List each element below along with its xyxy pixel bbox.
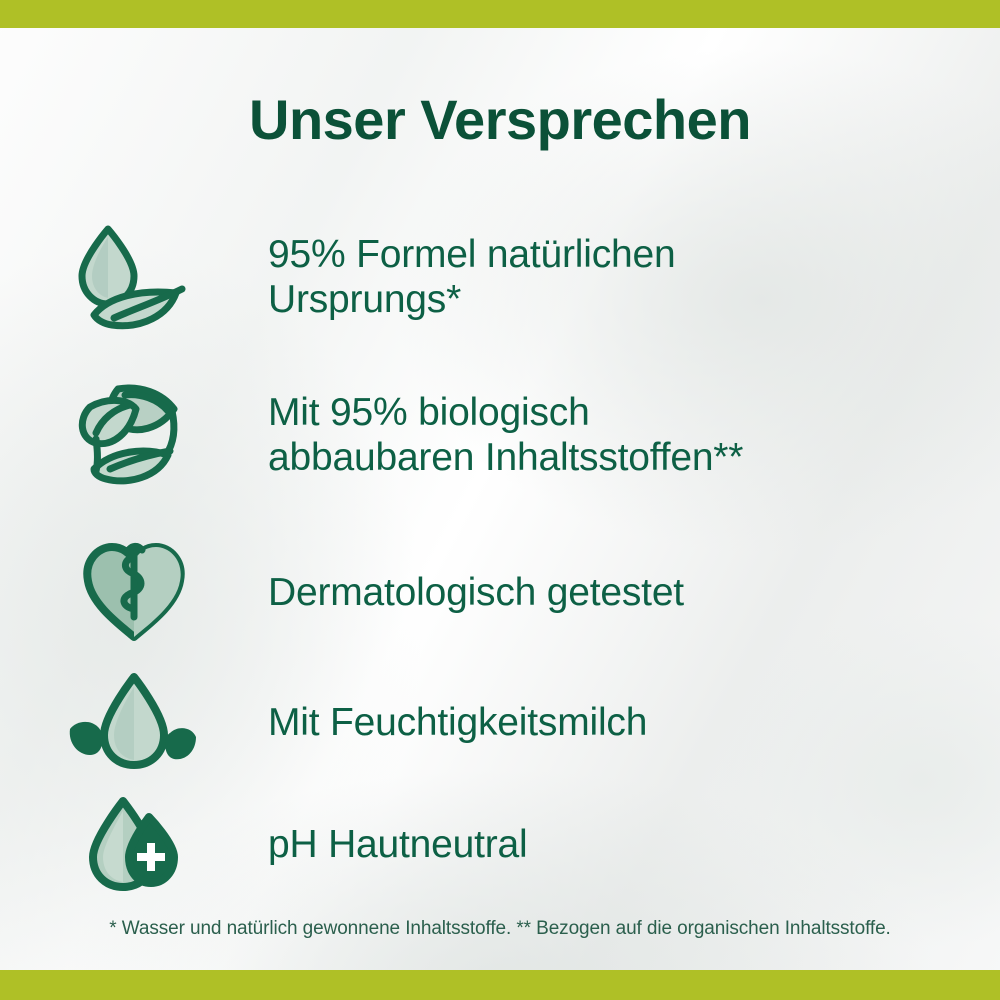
droplet-two-leaves-icon (66, 671, 202, 775)
claim-line: Dermatologisch getestet (268, 570, 684, 615)
top-accent-bar (0, 0, 1000, 28)
claim-icon-cell (0, 219, 268, 335)
list-item: Dermatologisch getestet (0, 530, 1000, 655)
claim-line: Mit 95% biologisch (268, 390, 743, 435)
promise-poster: Unser Versprechen 95% Formel natürlichen… (0, 0, 1000, 1000)
claim-text: Mit Feuchtigkeitsmilch (268, 700, 647, 745)
list-item: 95% Formel natürlichen Ursprungs* (0, 212, 1000, 342)
footnote-text: * Wasser und natürlich gewonnene Inhalts… (0, 918, 1000, 940)
claim-line: pH Hautneutral (268, 822, 528, 867)
claim-icon-cell (0, 537, 268, 649)
claim-line: 95% Formel natürlichen (268, 232, 675, 277)
list-item: Mit Feuchtigkeitsmilch (0, 664, 1000, 782)
claim-text: 95% Formel natürlichen Ursprungs* (268, 232, 675, 322)
claim-line: Mit Feuchtigkeitsmilch (268, 700, 647, 745)
list-item: Mit 95% biologisch abbaubaren Inhaltssto… (0, 370, 1000, 500)
claim-line: abbaubaren Inhaltsstoffen** (268, 435, 743, 480)
claim-text: Mit 95% biologisch abbaubaren Inhaltssto… (268, 390, 743, 480)
three-leaves-biodegradable-icon (70, 373, 198, 497)
claim-line: Ursprungs* (268, 277, 675, 322)
heart-caduceus-dermatology-icon (76, 537, 192, 649)
claim-icon-cell (0, 671, 268, 775)
list-item: pH Hautneutral (0, 790, 1000, 900)
bottom-accent-bar (0, 970, 1000, 1000)
page-title: Unser Versprechen (0, 92, 1000, 148)
claim-text: pH Hautneutral (268, 822, 528, 867)
claim-icon-cell (0, 373, 268, 497)
droplet-leaf-icon (68, 219, 200, 335)
claim-icon-cell (0, 795, 268, 895)
droplet-plus-ph-icon (79, 795, 189, 895)
claim-text: Dermatologisch getestet (268, 570, 684, 615)
